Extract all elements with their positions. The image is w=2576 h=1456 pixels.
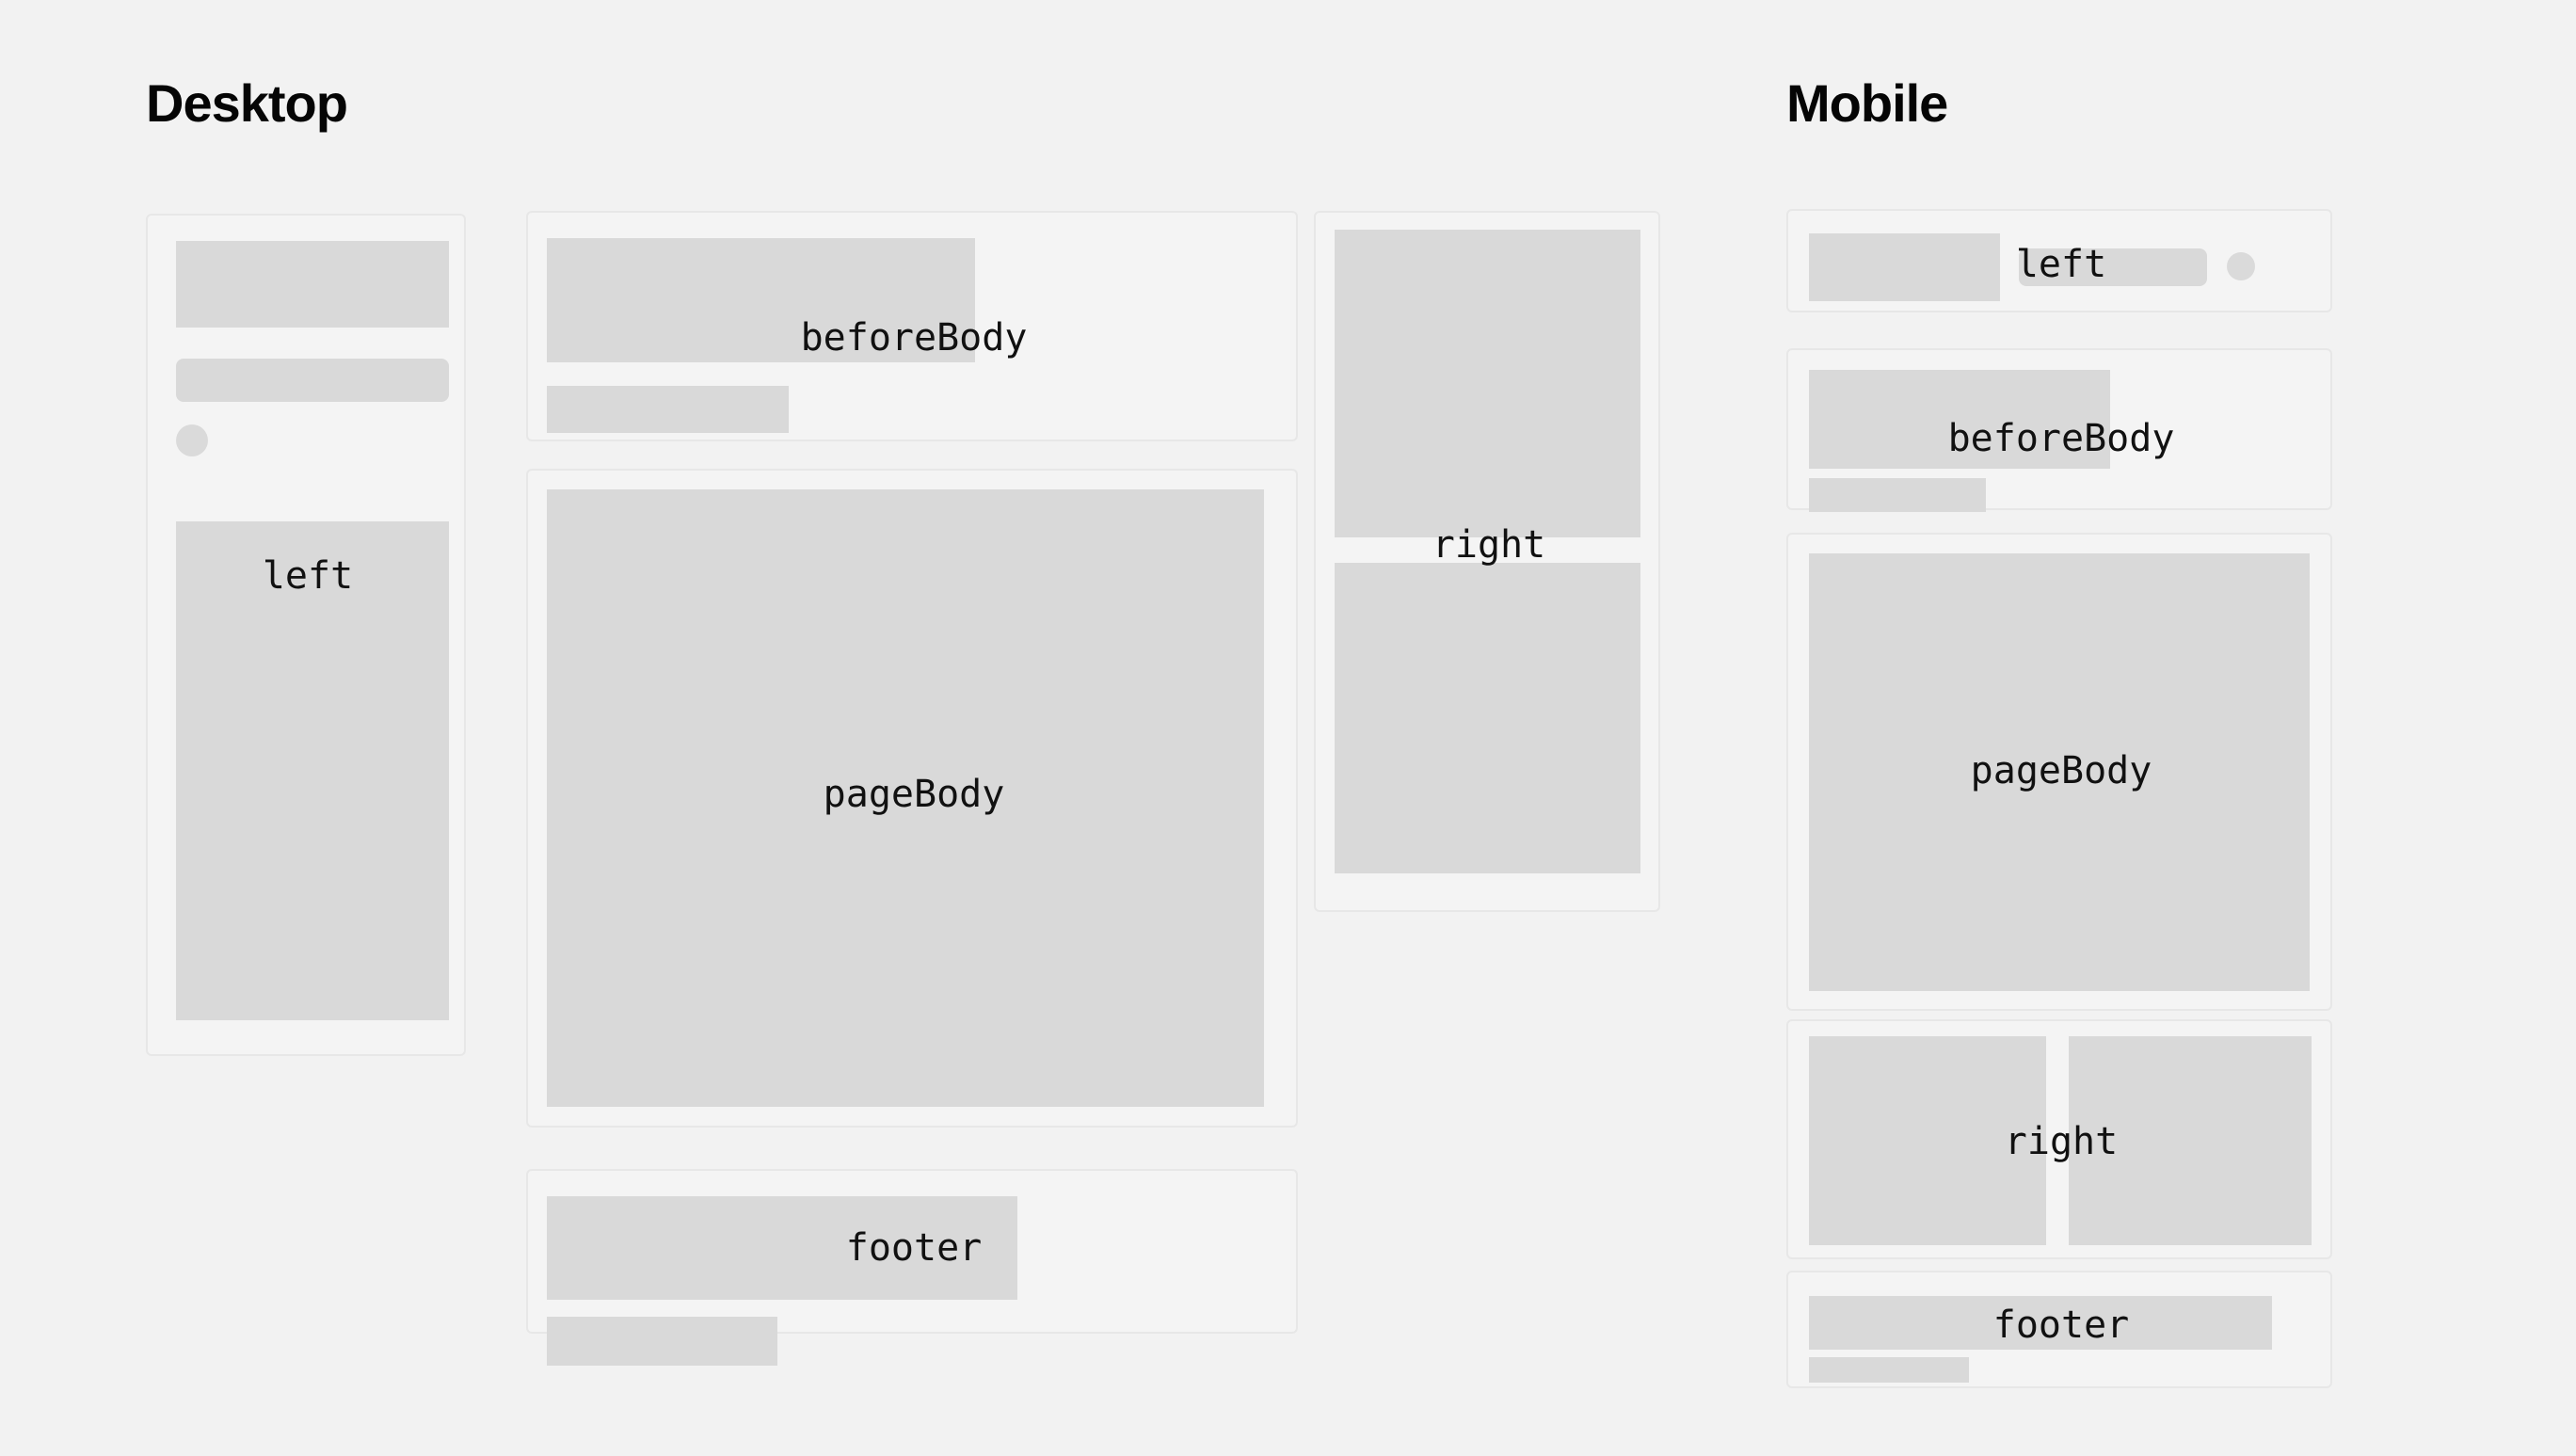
- mobile-page-body-content-block: [1809, 553, 2310, 991]
- desktop-before-body-caption-bar: [547, 386, 789, 433]
- desktop-sidebar-header-block: [176, 241, 449, 328]
- mobile-before-body-panel[interactable]: beforeBody: [1786, 348, 2332, 510]
- mobile-top-bar-search-bar[interactable]: [2019, 248, 2207, 286]
- mobile-footer-block: [1809, 1296, 2272, 1350]
- mobile-before-body-hero-block: [1809, 370, 2110, 469]
- desktop-before-body-hero-block: [547, 238, 975, 362]
- mobile-footer-bar: [1809, 1357, 1969, 1383]
- desktop-footer-bar: [547, 1317, 777, 1366]
- desktop-before-body-panel[interactable]: beforeBody: [526, 211, 1298, 441]
- desktop-sidebar-nav-block: [176, 521, 449, 1020]
- mobile-right-rail-panel[interactable]: right: [1786, 1019, 2332, 1259]
- desktop-right-widget-top: [1335, 230, 1640, 537]
- desktop-page-body-content-block: [547, 489, 1264, 1107]
- section-title-mobile: Mobile: [1786, 77, 1947, 130]
- mobile-top-bar-header-block: [1809, 233, 2000, 301]
- mobile-left-top-bar-panel[interactable]: left: [1786, 209, 2332, 312]
- mobile-footer-panel[interactable]: footer: [1786, 1271, 2332, 1388]
- desktop-sidebar-search-bar[interactable]: [176, 359, 449, 402]
- desktop-page-body-panel[interactable]: pageBody: [526, 469, 1298, 1128]
- mobile-right-widget-left: [1809, 1036, 2046, 1245]
- mobile-before-body-caption-bar: [1809, 478, 1986, 512]
- desktop-footer-panel[interactable]: footer: [526, 1169, 1298, 1334]
- desktop-footer-block: [547, 1196, 1017, 1300]
- desktop-right-rail-panel[interactable]: right: [1314, 211, 1660, 912]
- desktop-left-sidebar-panel[interactable]: left: [146, 214, 466, 1056]
- mobile-right-widget-right: [2069, 1036, 2312, 1245]
- section-title-desktop: Desktop: [146, 77, 347, 130]
- mobile-page-body-panel[interactable]: pageBody: [1786, 533, 2332, 1011]
- desktop-right-widget-bottom: [1335, 563, 1640, 873]
- desktop-sidebar-avatar-dot-icon[interactable]: [176, 424, 208, 456]
- mobile-top-bar-avatar-dot-icon[interactable]: [2227, 252, 2255, 280]
